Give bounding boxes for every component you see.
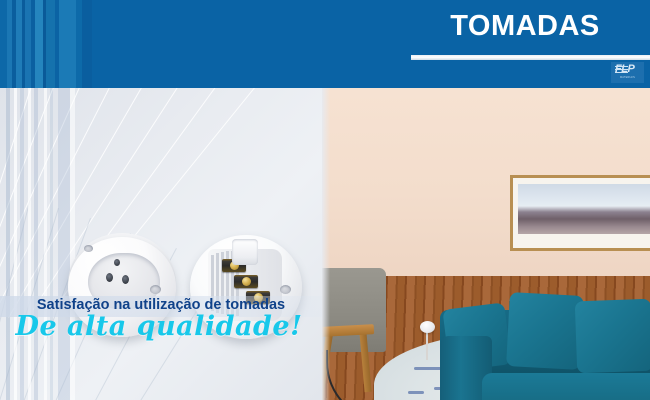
framed-artwork: [510, 175, 650, 251]
outlet-pin-hole: [106, 273, 113, 282]
page-title: TOMADAS: [410, 12, 640, 41]
product-panel: Satisfação na utilização de tomadas De a…: [0, 88, 322, 400]
wall-outlet-installed: [420, 321, 435, 333]
outlet-screw-hole: [84, 245, 93, 252]
artwork-seascape: [518, 184, 650, 234]
header-stripe: [59, 0, 76, 88]
logo-accent-bar: [615, 69, 628, 71]
outlet-screw-hole: [150, 285, 161, 294]
header-stripe: [35, 0, 43, 88]
banner-tomadas: TOMADAS FLP MATERIAIS ELETRICOS: [0, 0, 650, 400]
brand-logo[interactable]: FLP MATERIAIS ELETRICOS: [611, 62, 644, 83]
panel-stripe: [6, 88, 10, 400]
sofa-seat: [482, 373, 650, 400]
outlet-back-tab: [232, 239, 258, 265]
tagline-secondary: De alta qualidade!: [0, 313, 318, 340]
header-stripe: [82, 0, 92, 88]
logo-accent-bar: [615, 72, 628, 74]
outlet-screw-hole: [280, 285, 291, 294]
lifestyle-photo: [322, 88, 650, 400]
logo-subtitle: MATERIAIS ELETRICOS: [614, 76, 641, 79]
artwork-mat: [513, 178, 650, 248]
title-underline: [411, 55, 650, 60]
sofa-cushion: [575, 299, 650, 374]
outlet-terminal-screw: [242, 277, 251, 286]
header-bar: TOMADAS: [0, 0, 650, 88]
panel-stripe: [14, 88, 17, 400]
outlet-cord: [426, 332, 428, 360]
panel-stripe: [28, 88, 31, 400]
header-stripe: [46, 0, 55, 88]
photo-edge-fade: [322, 88, 330, 400]
header-stripe-group: [0, 0, 100, 88]
outlet-ground-hole: [114, 259, 120, 266]
sofa-cushion: [506, 292, 584, 370]
panel-stripe: [44, 88, 47, 400]
header-stripe: [0, 0, 7, 88]
logo-accent-bar: [615, 66, 628, 68]
panel-stripe: [34, 88, 38, 400]
outlet-pin-hole: [122, 275, 129, 284]
panel-stripe: [50, 88, 53, 400]
panel-stripe: [20, 88, 24, 400]
